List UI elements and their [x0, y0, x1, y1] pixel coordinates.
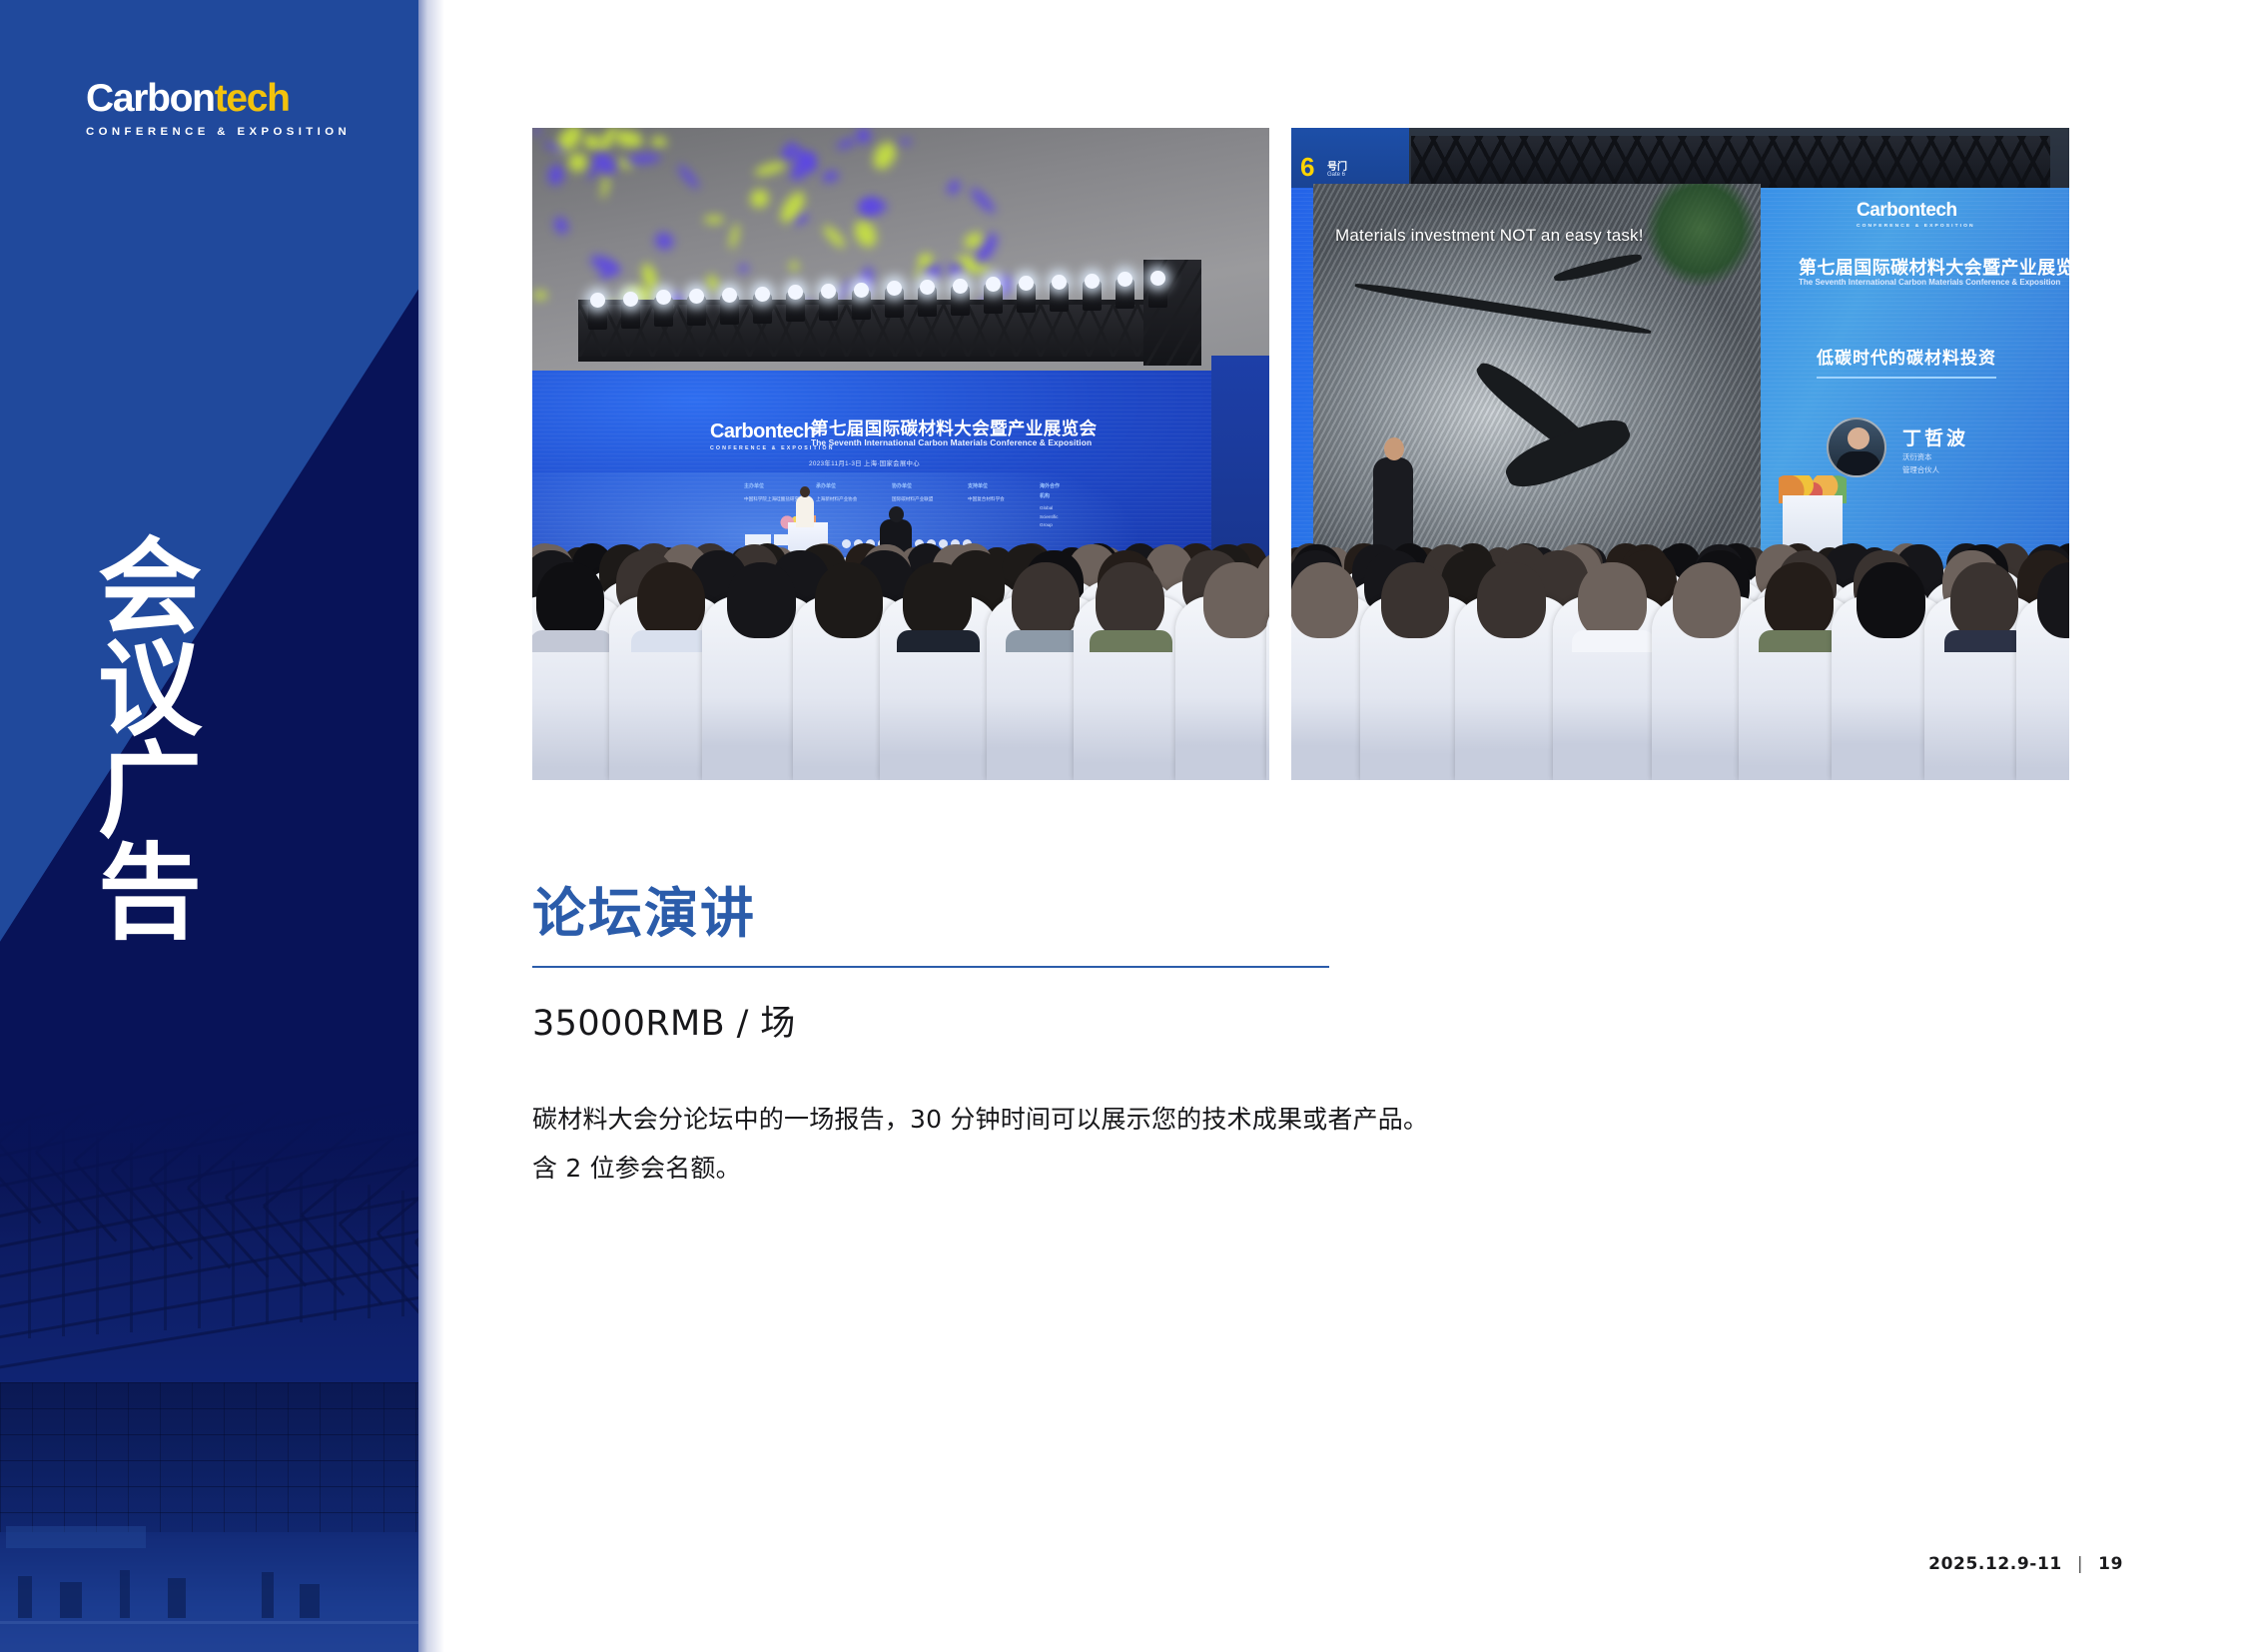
speaker-name: 丁哲波	[1902, 423, 1968, 450]
footer-separator: |	[2077, 1554, 2083, 1574]
led-column-lines: Global Scientific Group	[1040, 505, 1058, 527]
panel-title-cn: 第七届国际碳材料大会暨产业展览会	[1799, 254, 2069, 280]
photo-gallery: Carbontech CONFERENCE & EXPOSITION 第七届国际…	[532, 128, 2069, 780]
led-column-lines: 中国复合材料学会	[968, 496, 1005, 501]
audience-head	[727, 562, 795, 639]
audience-head	[536, 562, 604, 639]
audience-head	[1203, 562, 1269, 639]
audience-chair	[1266, 596, 1269, 780]
speaker-org: 沃衍资本	[1902, 451, 1939, 464]
gate-number: 6	[1300, 152, 1314, 183]
led-column-heading: 主办单位	[744, 482, 804, 492]
audience-head	[903, 562, 971, 639]
led-column-heading: 协办单位	[892, 482, 933, 492]
page-footer: 2025.12.9-11 | 19	[1928, 1554, 2123, 1574]
led-column-lines: 上海新材料产业协会	[816, 496, 857, 501]
description-line-1: 碳材料大会分论坛中的一场报告，30 分钟时间可以展示您的技术成果或者产品。	[532, 1096, 2070, 1145]
panel-logo-tech: tech	[1920, 200, 1957, 221]
vertical-title-char-2: 议	[98, 639, 238, 741]
brand-logo-word-tech: tech	[215, 77, 290, 120]
title-divider	[532, 966, 1329, 968]
gate-label-cn: 号门	[1327, 158, 1347, 173]
speaker-affiliation: 沃衍资本 管理合伙人	[1902, 451, 1939, 476]
audience-shoulders	[1944, 630, 2026, 652]
speaker-info-panel: Carbontech CONFERENCE & EXPOSITION 第七届国际…	[1771, 128, 2069, 597]
section-vertical-title: 会 议 广 告	[98, 537, 238, 945]
led-event-meta: 2023年11月1-3日 上海·国家会展中心	[809, 458, 920, 467]
vertical-title-char-4: 告	[98, 843, 238, 945]
page-number: 19	[2098, 1554, 2123, 1574]
audience-head	[1857, 562, 1924, 639]
audience-head	[1012, 562, 1080, 639]
slide-crack-1	[1354, 281, 1652, 338]
vertical-title-char-1: 会	[98, 537, 238, 639]
footer-date: 2025.12.9-11	[1928, 1554, 2062, 1574]
vertical-title-char-3: 广	[98, 741, 238, 843]
speaker-role: 管理合伙人	[1902, 464, 1939, 477]
audience-shoulders	[1572, 630, 1654, 652]
panel-logo-subtitle: CONFERENCE & EXPOSITION	[1857, 224, 1975, 229]
sidebar-soft-edge	[418, 0, 444, 1652]
panel-topic: 低碳时代的碳材料投资	[1817, 344, 1996, 379]
led-logo-carbon: Carbon	[710, 420, 776, 442]
speaker-avatar	[1827, 417, 1886, 477]
audience-head	[1673, 562, 1741, 639]
description-block: 碳材料大会分论坛中的一场报告，30 分钟时间可以展示您的技术成果或者产品。 含 …	[532, 1096, 2070, 1194]
led-column-heading: 承办单位	[816, 482, 857, 492]
led-column-heading: 支持单位	[968, 482, 1005, 492]
audience-head	[1477, 562, 1545, 639]
audience-head	[1291, 562, 1358, 639]
audience-head	[1096, 562, 1163, 639]
led-logo-tech: tech	[776, 420, 815, 442]
audience-head	[1381, 562, 1449, 639]
gate-label-en: Gate 6	[1327, 172, 1345, 178]
sidebar-venue-photo	[0, 1093, 418, 1652]
page-title: 论坛演讲	[532, 869, 756, 948]
main-content: Carbontech CONFERENCE & EXPOSITION 第七届国际…	[444, 0, 2241, 1652]
brand-logo-word-carbon: Carbon	[86, 77, 215, 120]
slide-vegetation	[1611, 184, 1761, 314]
stage-host	[796, 495, 814, 527]
audience-shoulders	[1090, 630, 1171, 652]
brand-logo-subtitle: CONFERENCE & EXPOSITION	[86, 126, 346, 138]
slide-caption: Materials investment NOT an easy task!	[1335, 226, 1644, 246]
description-line-2: 含 2 位参会名额。	[532, 1145, 2070, 1194]
brand-logo: Carbontech CONFERENCE & EXPOSITION	[86, 79, 346, 138]
audience-head	[815, 562, 883, 639]
led-column-lines: 国际碳材料产业联盟	[892, 496, 933, 501]
audience-shoulders	[1759, 630, 1841, 652]
panel-title-en: The Seventh International Carbon Materia…	[1799, 278, 2060, 287]
panel-brand-logo: Carbontech CONFERENCE & EXPOSITION	[1857, 200, 1975, 229]
photo-conference-hall: Carbontech CONFERENCE & EXPOSITION 第七届国际…	[532, 128, 1269, 780]
photo-keynote-speaker: 6 号门 Gate 6 Materials investment NOT an …	[1291, 128, 2069, 780]
audience-head	[637, 562, 705, 639]
audience-shoulders	[532, 630, 612, 652]
panel-logo-carbon: Carbon	[1857, 200, 1920, 221]
audience-head	[1765, 562, 1833, 639]
audience-head	[1950, 562, 2018, 639]
brand-logo-wordmark: Carbontech	[86, 79, 346, 118]
venue-top-fade	[0, 1093, 418, 1652]
audience-shoulders	[631, 630, 713, 652]
audience-shoulders	[897, 630, 979, 652]
sidebar: Carbontech CONFERENCE & EXPOSITION 会 议 广…	[0, 0, 418, 1652]
price-label: 35000RMB / 场	[532, 995, 796, 1046]
audience-head	[1578, 562, 1646, 639]
led-column-lines: 中国科学院上海硅酸盐研究所	[744, 496, 804, 501]
led-title-en: The Seventh International Carbon Materia…	[811, 437, 1092, 447]
led-column-heading: 海外合作机构	[1040, 482, 1064, 501]
